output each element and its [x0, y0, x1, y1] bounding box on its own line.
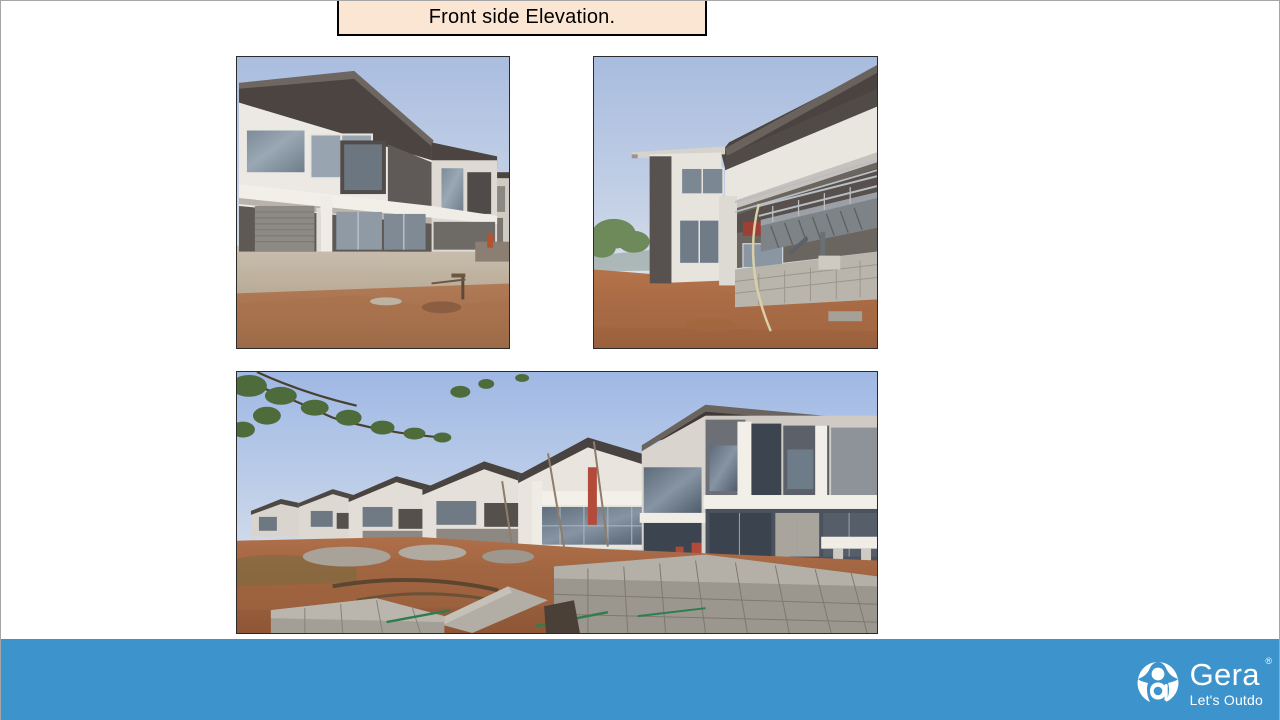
photo-side-with-staircase[interactable] — [593, 56, 878, 349]
presentation-slide: Front side Elevation. — [0, 0, 1280, 720]
photo-site-panorama[interactable] — [236, 371, 878, 634]
gera-logo-text: Gera ® Let's Outdo — [1190, 659, 1263, 707]
photo-side-with-staircase-image — [594, 57, 877, 348]
footer-bar: Gera ® Let's Outdo — [1, 639, 1280, 720]
gera-wordmark-row: Gera ® — [1190, 659, 1263, 690]
photo-front-elevation-image — [237, 57, 509, 348]
gera-logo: Gera ® Let's Outdo — [1135, 659, 1263, 707]
registered-trademark-icon: ® — [1265, 657, 1272, 666]
gera-tagline: Let's Outdo — [1190, 693, 1263, 707]
slide-title-box: Front side Elevation. — [337, 0, 707, 36]
photo-front-elevation[interactable] — [236, 56, 510, 349]
page-title: Front side Elevation. — [429, 7, 616, 27]
gera-g-mark-icon — [1135, 660, 1181, 706]
gera-wordmark: Gera — [1190, 657, 1260, 692]
photo-site-panorama-image — [237, 372, 877, 633]
